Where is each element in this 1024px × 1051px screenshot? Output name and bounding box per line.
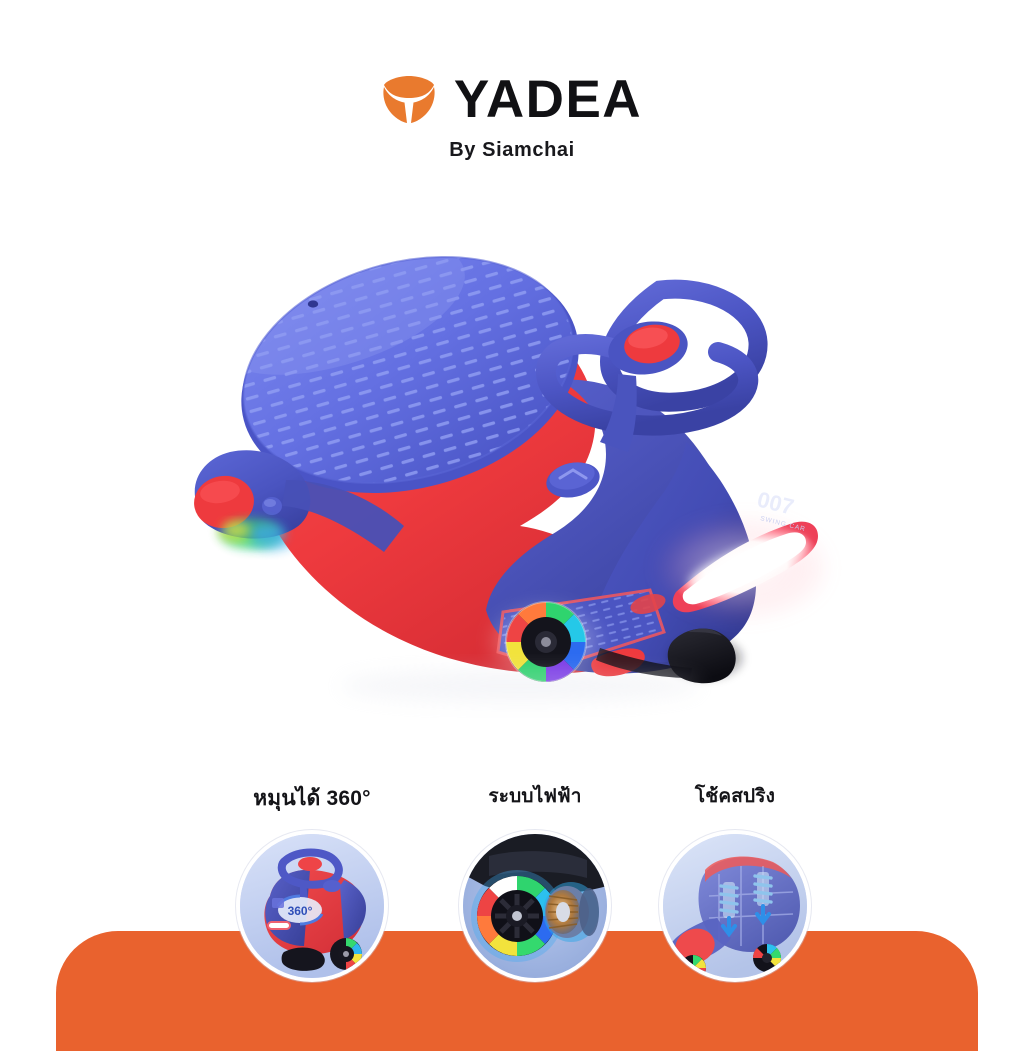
swing-car-front-view-icon: 360° [236, 830, 388, 982]
yadea-trefoil-logo-icon [382, 72, 436, 126]
seat-vent-hole [308, 300, 318, 307]
svg-text:360°: 360° [288, 904, 313, 918]
feature-item-rotation[interactable]: หมุนได้ 360° [207, 786, 417, 982]
product-hero: 007 SWING CAR [0, 180, 1024, 780]
feature-label-electric: ระบบไฟฟ้า [430, 786, 640, 820]
brand-lockup: YADEA [382, 72, 642, 126]
feature-item-shock[interactable]: โช้คสปริง [630, 786, 840, 982]
feature-strip: หมุนได้ 360° [0, 786, 1024, 1024]
feature-label-rotation: หมุนได้ 360° [207, 786, 417, 820]
spring-shock-absorber-icon [659, 830, 811, 982]
feature-label-shock: โช้คสปริง [630, 786, 840, 820]
swing-car-illustration: 007 SWING CAR [0, 180, 1024, 780]
feature-item-electric[interactable]: ระบบไฟฟ้า [430, 786, 640, 982]
brand-tagline: By Siamchai [449, 139, 575, 162]
brand-wordmark: YADEA [454, 73, 642, 126]
product-image-canvas: YADEA By Siamchai [0, 0, 1024, 1024]
brand-header: YADEA By Siamchai [0, 72, 1024, 162]
led-wheel-motor-icon [459, 830, 611, 982]
